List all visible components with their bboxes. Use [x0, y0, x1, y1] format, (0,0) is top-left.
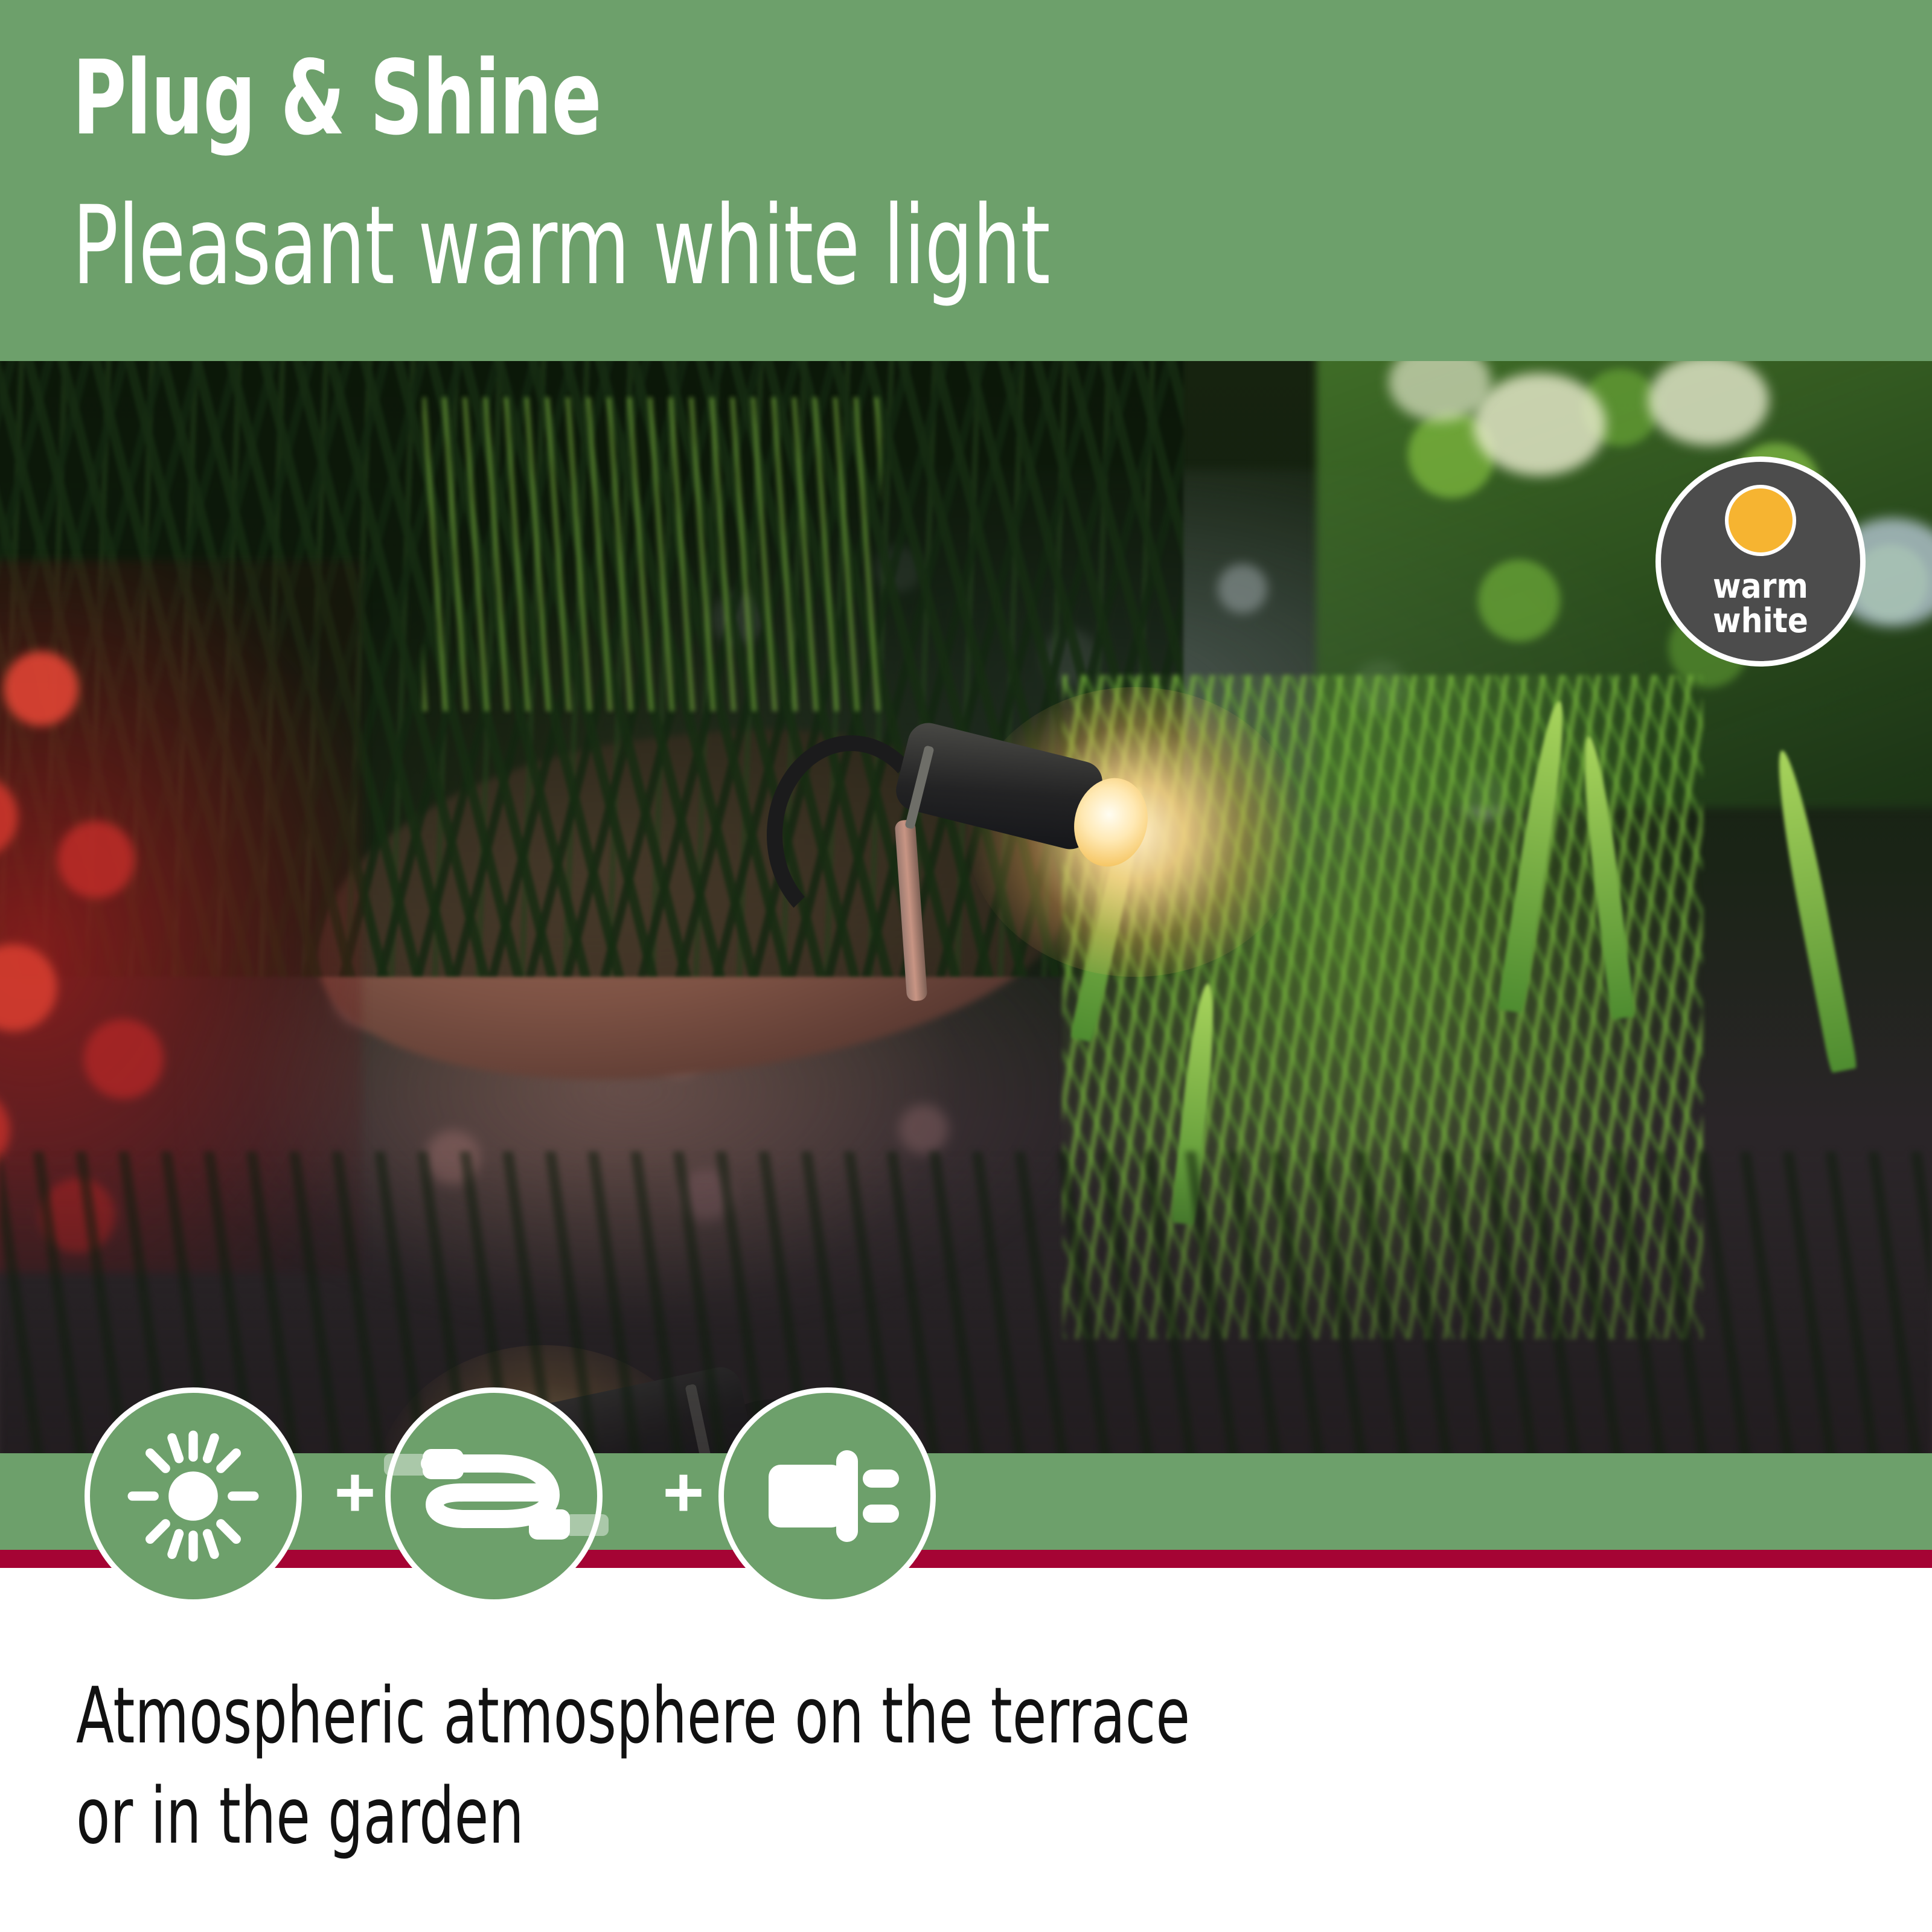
cable-icon	[367, 1422, 623, 1570]
caption-text: Atmospheric atmosphere on the terrace or…	[76, 1666, 1332, 1867]
icon-badge-power-supply[interactable]	[718, 1387, 936, 1605]
warm-white-dot-icon	[1725, 485, 1796, 556]
plus-separator-2: +	[659, 1471, 708, 1519]
hero-photo: warmwhite	[0, 361, 1932, 1453]
garden-night-scene	[0, 361, 1932, 1453]
warm-white-badge: warmwhite	[1655, 456, 1866, 667]
header-bar: Plug & Shine Pleasant warm white light	[0, 0, 1932, 361]
badge-label-line1: warm	[1713, 567, 1808, 606]
page-title: Plug & Shine	[72, 47, 601, 150]
badge-label: warmwhite	[1713, 569, 1808, 638]
badge-label-line2: white	[1713, 601, 1808, 641]
sun-icon	[121, 1424, 266, 1569]
hydrangea-bloom	[1473, 373, 1606, 476]
page-subtitle: Pleasant warm white light	[72, 192, 1050, 301]
icon-badge-light[interactable]	[85, 1387, 302, 1605]
spotlight-upper	[785, 621, 1244, 959]
plug-icon	[752, 1436, 903, 1556]
product-banner: Plug & Shine Pleasant warm white light	[0, 0, 1932, 1932]
feature-icon-strip: + +	[0, 1387, 1932, 1610]
